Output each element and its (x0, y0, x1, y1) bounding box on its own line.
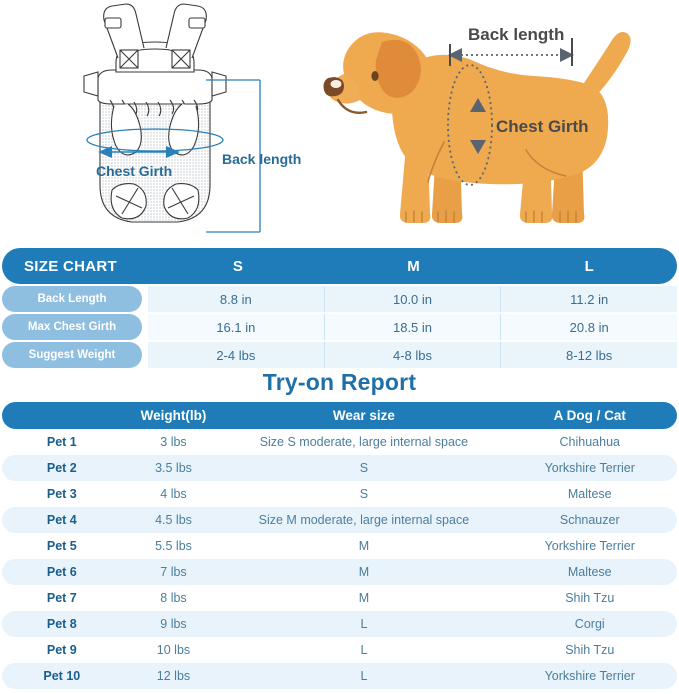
tryon-cell-weight: 3 lbs (122, 435, 226, 449)
tryon-cell-weight: 4 lbs (122, 487, 226, 501)
size-chart-table: SIZE CHART S M L Back Length 8.8 in 10.0… (0, 248, 679, 370)
size-chart-cell: 11.2 in (501, 286, 677, 312)
tryon-cell-wear: S (225, 461, 502, 475)
carrier-back-length-label: Back length (222, 151, 301, 167)
tryon-col-wear-size: Wear size (225, 408, 502, 423)
tryon-cell-weight: 9 lbs (122, 617, 226, 631)
tryon-cell-wear: M (225, 591, 502, 605)
size-chart-cell: 18.5 in (325, 314, 502, 340)
size-chart-col-s: S (150, 258, 326, 275)
tryon-col-breed: A Dog / Cat (503, 408, 677, 423)
table-row: Pet 9 10 lbs L Shih Tzu (2, 637, 677, 663)
tryon-cell-breed: Maltese (503, 565, 677, 579)
dog-back-length-label: Back length (468, 25, 564, 44)
tryon-cell-wear: S (225, 487, 502, 501)
tryon-cell-pet: Pet 9 (2, 643, 122, 657)
tryon-cell-breed: Yorkshire Terrier (503, 669, 677, 683)
tryon-cell-weight: 8 lbs (122, 591, 226, 605)
pet-carrier-illustration: Chest Girth Back length (60, 0, 320, 245)
table-row: Pet 10 12 lbs L Yorkshire Terrier (2, 663, 677, 689)
size-chart-cell: 20.8 in (501, 314, 677, 340)
tryon-cell-pet: Pet 2 (2, 461, 122, 475)
tryon-cell-breed: Corgi (503, 617, 677, 631)
tryon-cell-breed: Shih Tzu (503, 591, 677, 605)
size-chart-row-cells: 2-4 lbs 4-8 lbs 8-12 lbs (148, 342, 677, 368)
tryon-cell-wear: M (225, 565, 502, 579)
tryon-cell-breed: Yorkshire Terrier (503, 461, 677, 475)
size-chart-row-cells: 8.8 in 10.0 in 11.2 in (148, 286, 677, 312)
tryon-cell-breed: Yorkshire Terrier (503, 539, 677, 553)
table-row: Pet 3 4 lbs S Maltese (2, 481, 677, 507)
tryon-cell-wear: Size S moderate, large internal space (225, 435, 502, 449)
size-chart-row-label: Suggest Weight (2, 342, 142, 368)
tryon-cell-pet: Pet 6 (2, 565, 122, 579)
tryon-cell-wear: L (225, 669, 502, 683)
dog-illustration: Back length Chest Girth (320, 0, 679, 245)
tryon-cell-weight: 12 lbs (122, 669, 226, 683)
tryon-cell-weight: 3.5 lbs (122, 461, 226, 475)
tryon-report-table: Weight(lb) Wear size A Dog / Cat Pet 1 3… (0, 402, 679, 689)
size-chart-row: Back Length 8.8 in 10.0 in 11.2 in (2, 286, 677, 312)
table-row: Pet 8 9 lbs L Corgi (2, 611, 677, 637)
carrier-chest-girth-label: Chest Girth (96, 163, 172, 179)
tryon-cell-wear: M (225, 539, 502, 553)
size-chart-row-label: Max Chest Girth (2, 314, 142, 340)
tryon-cell-pet: Pet 1 (2, 435, 122, 449)
tryon-cell-pet: Pet 5 (2, 539, 122, 553)
tryon-cell-breed: Chihuahua (503, 435, 677, 449)
table-row: Pet 2 3.5 lbs S Yorkshire Terrier (2, 455, 677, 481)
tryon-cell-wear: L (225, 643, 502, 657)
size-chart-cell: 8.8 in (148, 286, 325, 312)
size-chart-cell: 16.1 in (148, 314, 325, 340)
size-chart-row: Suggest Weight 2-4 lbs 4-8 lbs 8-12 lbs (2, 342, 677, 368)
tryon-cell-breed: Schnauzer (503, 513, 677, 527)
size-chart-row-label: Back Length (2, 286, 142, 312)
tryon-cell-breed: Maltese (503, 487, 677, 501)
size-chart-cell: 10.0 in (325, 286, 502, 312)
tryon-cell-wear: L (225, 617, 502, 631)
dog-chest-girth-label: Chest Girth (496, 117, 589, 136)
size-chart-cell: 2-4 lbs (148, 342, 325, 368)
tryon-cell-pet: Pet 8 (2, 617, 122, 631)
tryon-cell-pet: Pet 10 (2, 669, 122, 683)
tryon-cell-weight: 7 lbs (122, 565, 226, 579)
tryon-cell-weight: 5.5 lbs (122, 539, 226, 553)
table-row: Pet 6 7 lbs M Maltese (2, 559, 677, 585)
tryon-cell-breed: Shih Tzu (503, 643, 677, 657)
size-chart-row: Max Chest Girth 16.1 in 18.5 in 20.8 in (2, 314, 677, 340)
tryon-cell-weight: 10 lbs (122, 643, 226, 657)
tryon-cell-pet: Pet 3 (2, 487, 122, 501)
tryon-cell-pet: Pet 7 (2, 591, 122, 605)
size-chart-row-cells: 16.1 in 18.5 in 20.8 in (148, 314, 677, 340)
size-chart-col-l: L (501, 258, 677, 275)
size-chart-cell: 8-12 lbs (501, 342, 677, 368)
tryon-col-weight: Weight(lb) (122, 408, 226, 423)
size-chart-col-m: M (326, 258, 502, 275)
size-chart-body: Back Length 8.8 in 10.0 in 11.2 in Max C… (0, 286, 679, 368)
size-chart-title: SIZE CHART (2, 258, 150, 275)
tryon-header-row: Weight(lb) Wear size A Dog / Cat (2, 402, 677, 429)
tryon-cell-pet: Pet 4 (2, 513, 122, 527)
table-row: Pet 1 3 lbs Size S moderate, large inter… (2, 429, 677, 455)
table-row: Pet 4 4.5 lbs Size M moderate, large int… (2, 507, 677, 533)
illustration-band: Chest Girth Back length (0, 0, 679, 245)
tryon-cell-wear: Size M moderate, large internal space (225, 513, 502, 527)
size-chart-header-row: SIZE CHART S M L (2, 248, 677, 284)
table-row: Pet 5 5.5 lbs M Yorkshire Terrier (2, 533, 677, 559)
tryon-report-title: Try-on Report (0, 369, 679, 396)
table-row: Pet 7 8 lbs M Shih Tzu (2, 585, 677, 611)
tryon-cell-weight: 4.5 lbs (122, 513, 226, 527)
size-chart-cell: 4-8 lbs (325, 342, 502, 368)
